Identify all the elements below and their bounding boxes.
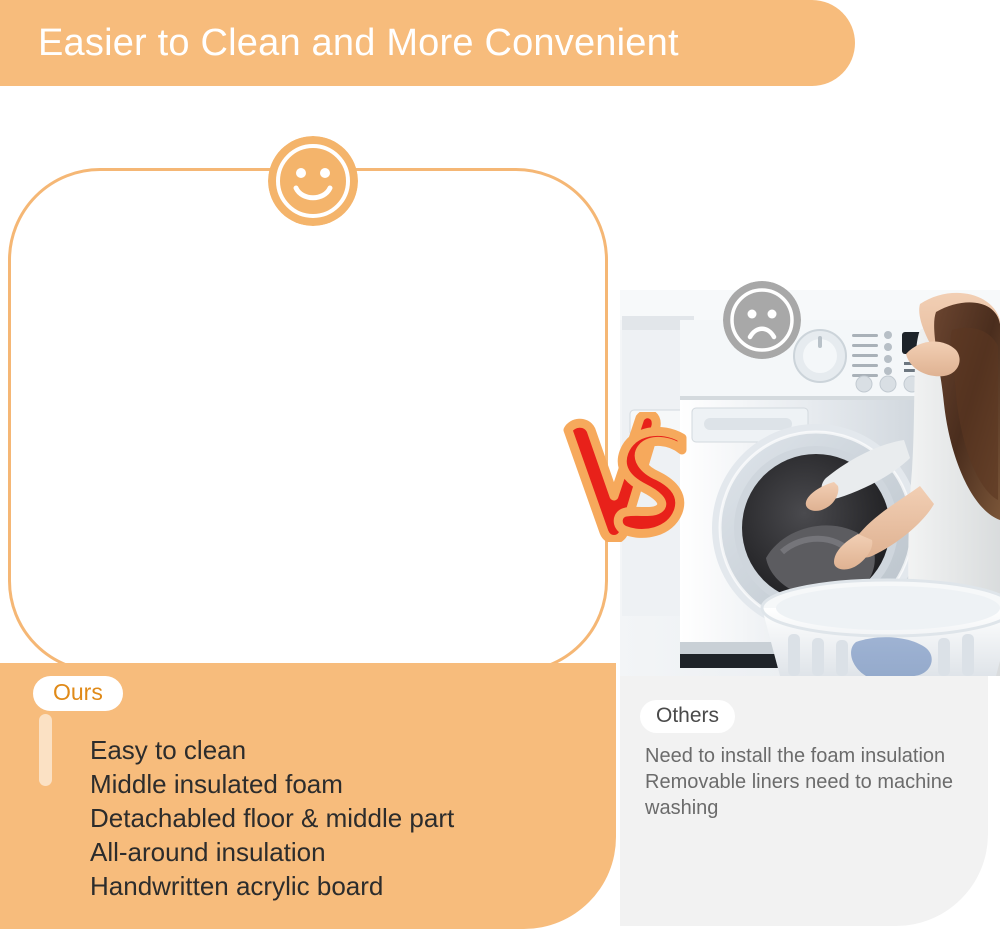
ours-feature-list: Easy to clean Middle insulated foam Deta… — [90, 733, 600, 903]
list-item: Detachabled floor & middle part — [90, 801, 600, 835]
happy-face-icon — [268, 136, 358, 226]
list-item: Handwritten acrylic board — [90, 869, 600, 903]
list-item: All-around insulation — [90, 835, 600, 869]
infographic-page: Easier to Clean and More Convenient — [0, 0, 1000, 937]
others-drawback-list: Need to install the foam insulation Remo… — [645, 743, 990, 821]
laundry-basket — [762, 580, 1000, 676]
list-item: Middle insulated foam — [90, 767, 600, 801]
list-item: Easy to clean — [90, 733, 600, 767]
page-title: Easier to Clean and More Convenient — [38, 22, 679, 65]
sad-face-icon — [723, 281, 801, 359]
others-tag: Others — [640, 700, 735, 733]
header-banner: Easier to Clean and More Convenient — [0, 0, 855, 86]
list-item: Need to install the foam insulation — [645, 743, 990, 769]
ours-tag: Ours — [33, 676, 123, 711]
ours-accent-bar — [39, 714, 52, 786]
ours-frame-border — [8, 168, 608, 673]
versus-mark — [558, 412, 693, 542]
list-item: Removable liners need to machine washing — [645, 769, 990, 821]
